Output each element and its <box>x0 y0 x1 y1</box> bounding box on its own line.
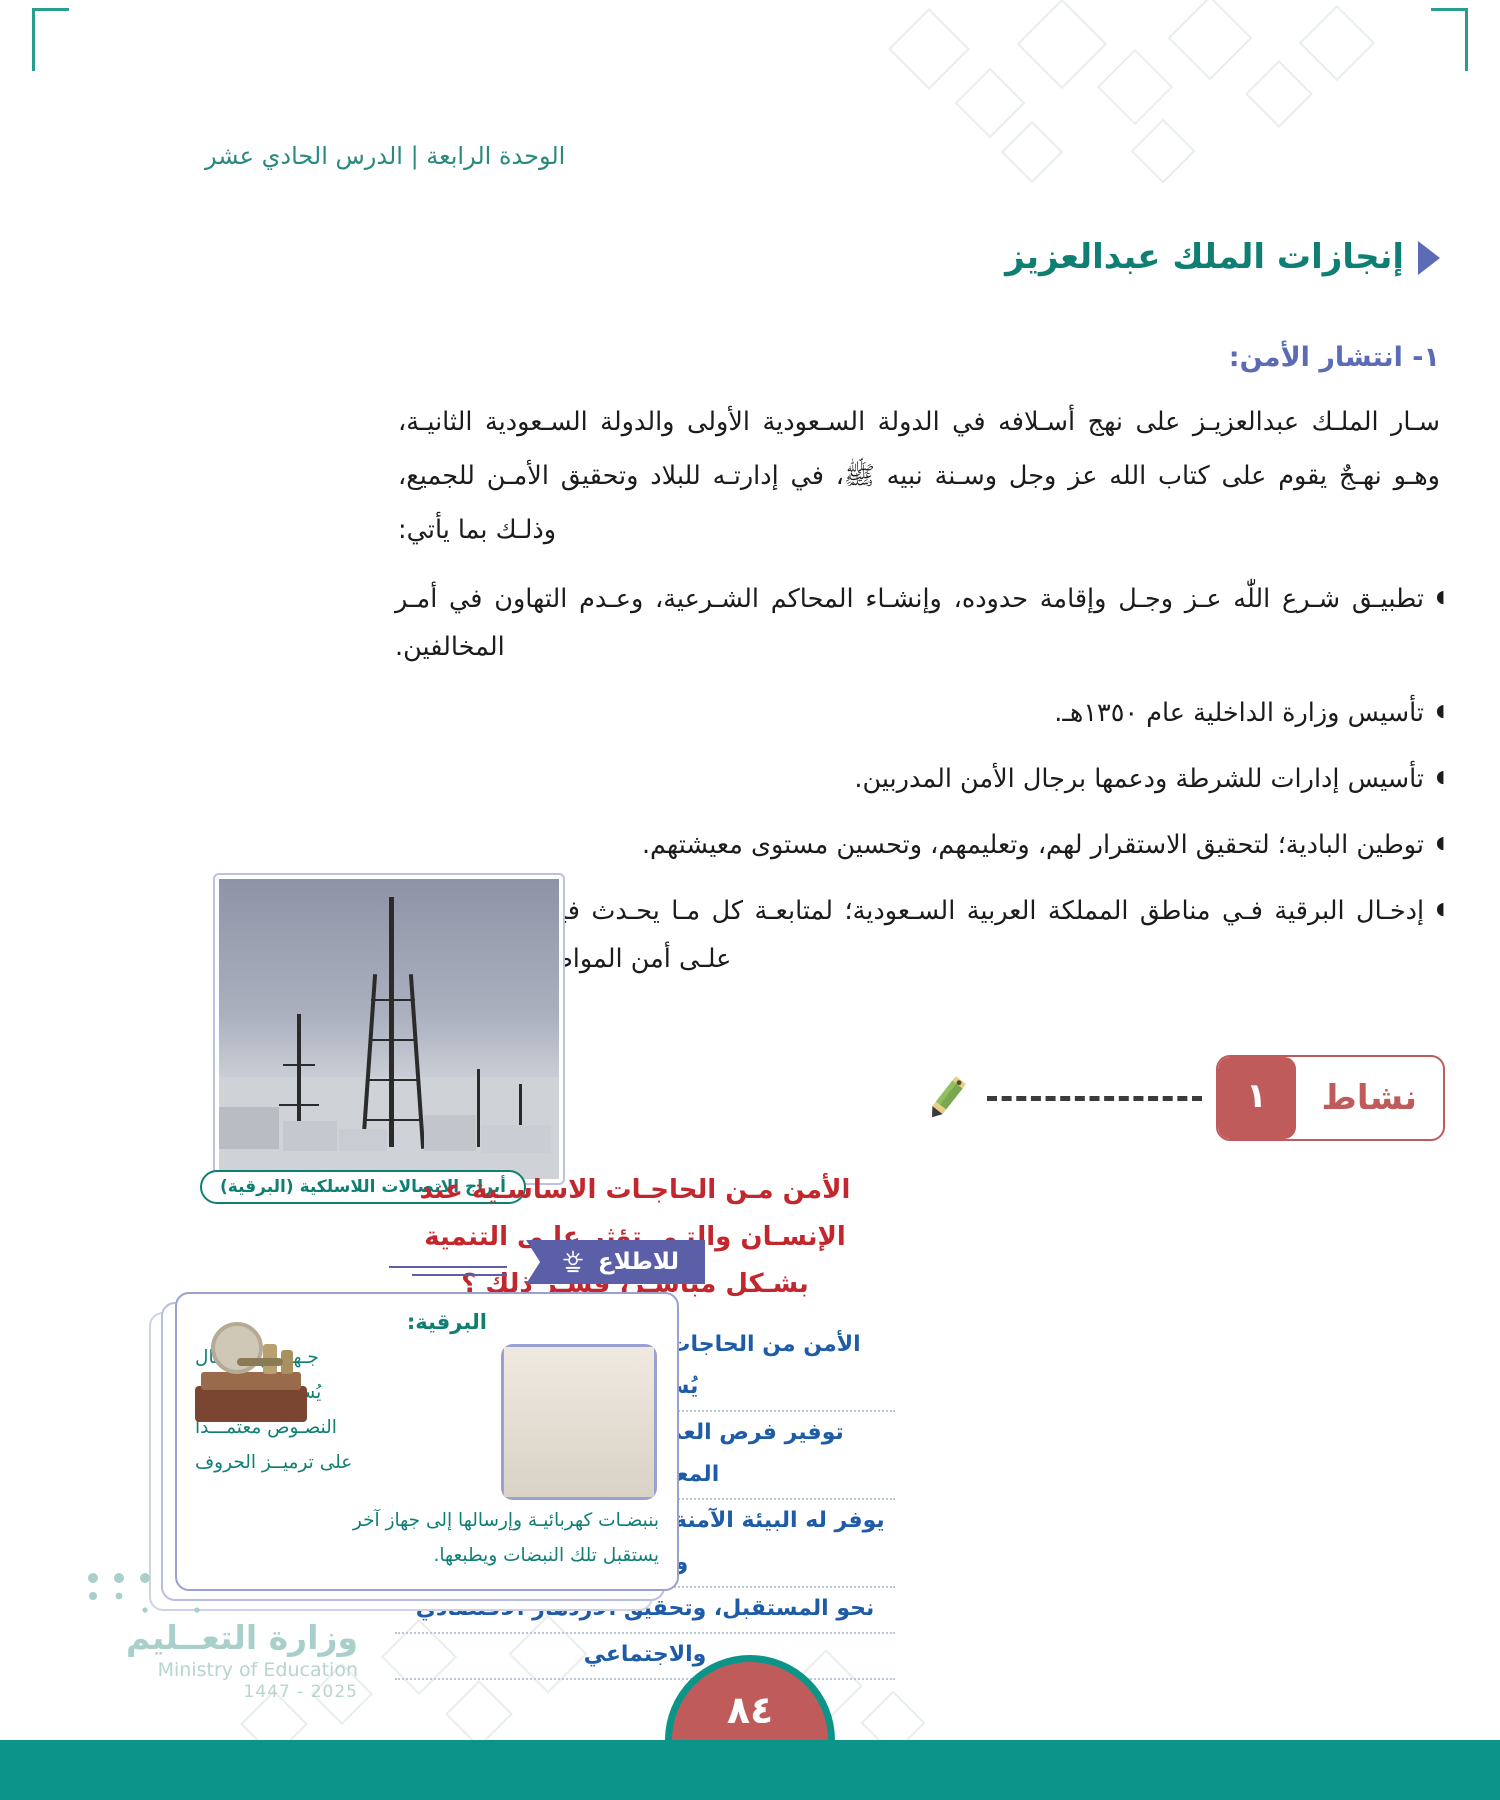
mast-cross <box>371 999 415 1001</box>
info-line: على ترميــز الحروف <box>195 1445 487 1480</box>
activity-question: الأمن مـن الحاجـات الاساسـية عند الإنسـا… <box>395 1167 875 1308</box>
bullet-glyph-icon: ◖ <box>1436 589 1445 606</box>
decorative-diamond <box>888 8 970 90</box>
intro-paragraph: سـار الملـك عبدالعزيـز على نهج أسـلافه ف… <box>398 395 1440 557</box>
decorative-diamond <box>1130 118 1195 183</box>
ministry-years: 2025 - 1447 <box>78 1682 358 1702</box>
building <box>219 1107 279 1149</box>
tab-leader-line <box>389 1266 507 1268</box>
decorative-diamond <box>1017 0 1108 89</box>
ministry-name-ar: وزارة التعــليم <box>78 1618 358 1657</box>
ministry-name-en: Ministry of Education <box>78 1659 358 1681</box>
corner-bracket-left <box>32 8 69 71</box>
decorative-diamond <box>1299 5 1375 81</box>
bullet-glyph-icon: ◖ <box>1436 901 1445 918</box>
mast-cross <box>369 1039 417 1041</box>
page-title: إنجازات الملك عبدالعزيز <box>1005 237 1440 277</box>
activity-label: نشاط <box>1296 1059 1443 1137</box>
list-item: ◖ تأسيس إدارات للشرطة ودعمها برجال الأمن… <box>395 755 1445 803</box>
building <box>283 1121 337 1151</box>
arrow-left-icon <box>1418 241 1440 275</box>
list-item: ◖ توطين البادية؛ لتحقيق الاستقرار لهم، و… <box>395 821 1445 869</box>
dashed-connector <box>987 1096 1202 1101</box>
mast-cross <box>279 1104 319 1106</box>
activity-badge: نشاط ١ <box>1216 1055 1445 1141</box>
mast-main <box>389 897 394 1147</box>
ministry-logo: وزارة التعــليم Ministry of Education 20… <box>78 1618 358 1702</box>
decorative-diamond <box>1097 49 1173 125</box>
corner-bracket-right <box>1431 8 1468 71</box>
page-title-text: إنجازات الملك عبدالعزيز <box>1005 237 1404 277</box>
bullet-glyph-icon: ◖ <box>1436 703 1445 720</box>
decorative-diamond <box>445 1680 513 1748</box>
info-box-tab: للاطلاع <box>526 1240 705 1284</box>
decorative-diamond <box>1245 60 1313 128</box>
decorative-diamond <box>1168 0 1253 80</box>
bullet-glyph-icon: ◖ <box>1436 769 1445 786</box>
breadcrumb: الوحدة الرابعة | الدرس الحادي عشر <box>205 142 565 170</box>
section-subtitle: ١- انتشار الأمن: <box>1229 342 1440 373</box>
bullet-glyph-icon: ◖ <box>1436 835 1445 852</box>
decorative-diamond <box>955 68 1026 139</box>
building <box>339 1129 387 1151</box>
list-item: ◖ تطبيـق شـرع اللّٰه عـز وجـل وإقامة حدو… <box>395 575 1445 671</box>
mast-secondary <box>297 1014 301 1134</box>
list-item-label: تأسيس وزارة الداخلية عام ١٣٥٠هـ. <box>395 689 1424 737</box>
activity-header: نشاط ١ <box>395 1055 1445 1141</box>
answer-line: والاجتماعي <box>395 1634 895 1680</box>
mast-cross <box>283 1064 315 1066</box>
telegraph-key-device-photo <box>501 1344 657 1500</box>
list-item-label: توطين البادية؛ لتحقيق الاستقرار لهم، وتع… <box>395 821 1424 869</box>
textbook-page: الوحدة الرابعة | الدرس الحادي عشر إنجازا… <box>0 0 1500 1800</box>
info-line: يستقبل تلك النبضات ويطبعها. <box>195 1538 659 1573</box>
info-tab-label: للاطلاع <box>598 1249 679 1275</box>
list-item-label: تأسيس إدارات للشرطة ودعمها برجال الأمن ا… <box>395 755 1424 803</box>
activity-number: ١ <box>1218 1057 1296 1139</box>
list-item-label: تطبيـق شـرع اللّٰه عـز وجـل وإقامة حدوده… <box>395 575 1424 671</box>
pencil-icon <box>921 1072 973 1124</box>
decorative-diamond <box>1001 121 1063 183</box>
info-line: بنبضـات كهربائيـة وإرسالها إلى جهاز آخر <box>195 1503 659 1538</box>
bottom-bar <box>0 1740 1500 1800</box>
lightbulb-book-icon <box>560 1249 586 1275</box>
tab-leader-line <box>412 1274 507 1276</box>
info-card: البرقية: جـهـــاز اتـصــال يُستعمل لإرسـ… <box>175 1292 679 1591</box>
list-item: ◖ تأسيس وزارة الداخلية عام ١٣٥٠هـ. <box>395 689 1445 737</box>
